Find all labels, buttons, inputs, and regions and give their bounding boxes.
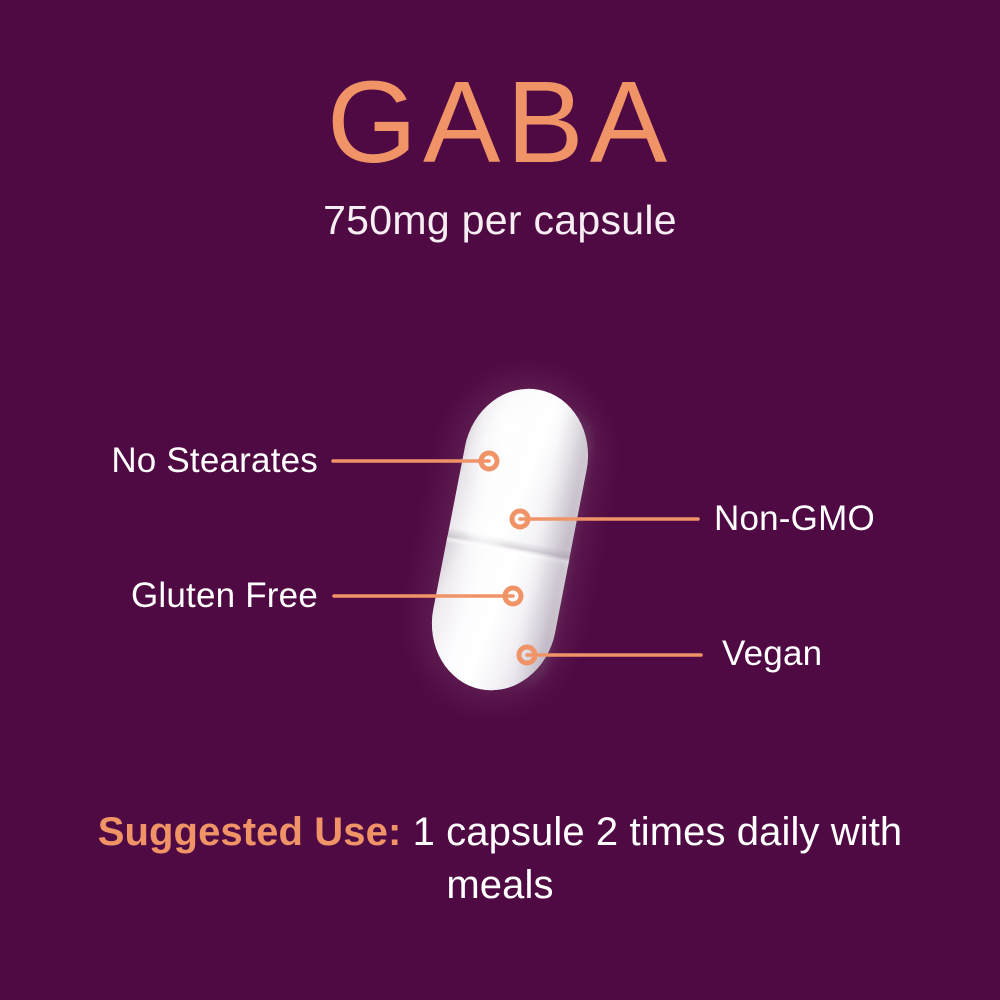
suggested-use-label: Suggested Use: bbox=[98, 810, 402, 854]
product-infographic: GABA 750mg per capsule No Stearates Non-… bbox=[0, 0, 1000, 1000]
capsule-body-shape bbox=[420, 378, 600, 701]
capsule-image bbox=[370, 365, 650, 715]
suggested-use-text: 1 capsule 2 times daily with meals bbox=[401, 810, 902, 907]
suggested-use-block: Suggested Use: 1 capsule 2 times daily w… bbox=[70, 806, 930, 912]
callout-label-no-stearates: No Stearates bbox=[78, 443, 318, 478]
callout-label-non-gmo: Non-GMO bbox=[714, 501, 875, 536]
product-dosage-subtitle: 750mg per capsule bbox=[0, 196, 1000, 245]
callout-label-gluten-free: Gluten Free bbox=[110, 578, 318, 613]
callout-label-vegan: Vegan bbox=[722, 636, 822, 671]
page-title: GABA bbox=[0, 62, 1000, 184]
